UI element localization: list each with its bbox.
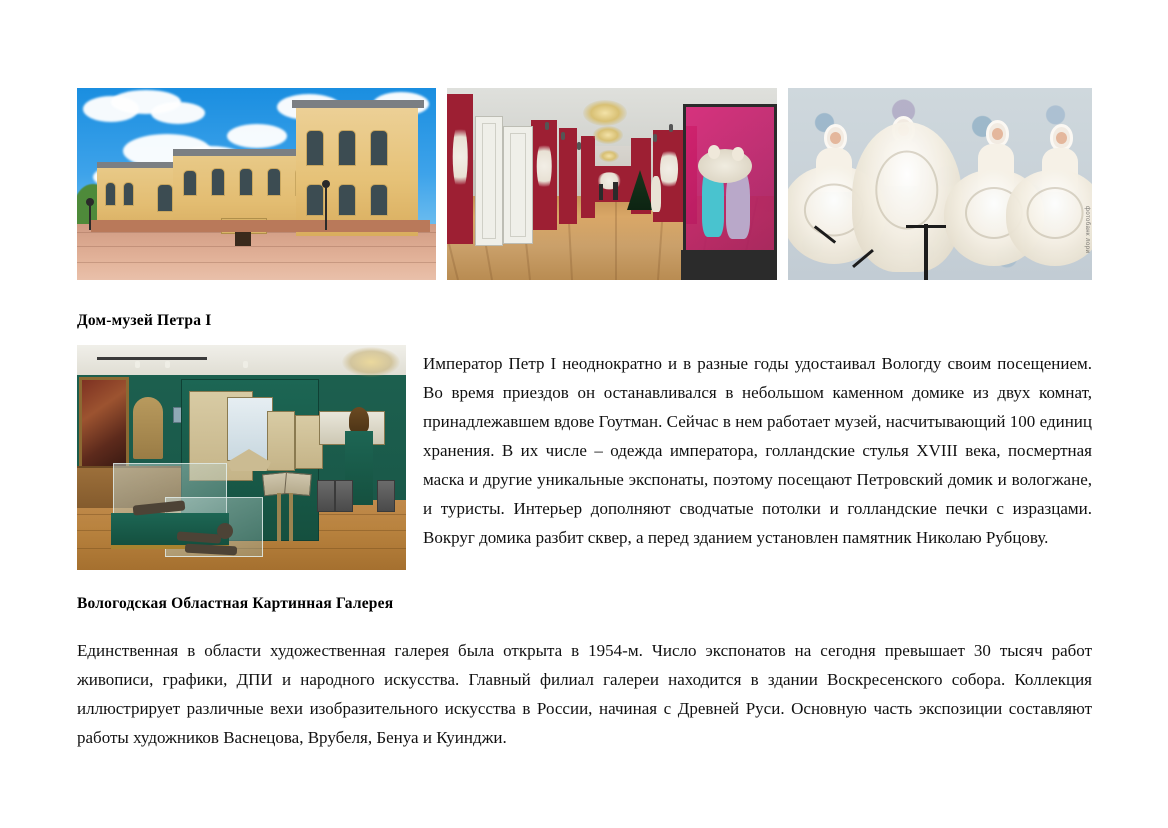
- photo-watermark: фотобанк лори: [1084, 206, 1090, 253]
- exhibit-panel: [267, 411, 295, 471]
- door: [475, 116, 503, 246]
- book-stand-leg: [277, 493, 281, 541]
- display-case-base: [681, 250, 777, 280]
- chair: [335, 480, 353, 512]
- street-lamp: [325, 186, 327, 230]
- costume-display-case[interactable]: [683, 104, 777, 270]
- mannequin: [651, 176, 661, 212]
- street-lamp: [89, 204, 91, 230]
- peter-house-museum-interior-photo: [77, 345, 406, 570]
- case-base: [111, 513, 229, 549]
- lace-shawl-center: [852, 122, 962, 272]
- museum-hall-photo: [447, 88, 777, 280]
- chair: [317, 480, 335, 512]
- chair: [377, 480, 395, 512]
- building-right-wing: [296, 106, 418, 236]
- oil-painting: [79, 377, 129, 469]
- door: [503, 126, 533, 244]
- book-stand-leg: [289, 493, 293, 541]
- chandelier: [593, 126, 623, 144]
- section-heading-peter-house-museum: Дом-музей Петра I: [77, 312, 211, 330]
- exhibition-panel: [531, 120, 557, 230]
- bronze-bust: [349, 407, 369, 433]
- cloud: [151, 102, 205, 124]
- visitor-silhouette: [613, 182, 618, 200]
- photo-strip: фотобанк лори: [77, 88, 1092, 280]
- section-body-peter-house-museum: Император Петр I неоднократно и в разные…: [423, 349, 1092, 552]
- mannequin-head: [708, 145, 720, 159]
- exhibition-panel: [447, 94, 473, 244]
- lighting-track: [97, 357, 207, 360]
- lace-performers-photo: фотобанк лори: [788, 88, 1092, 280]
- music-stand-bar: [906, 225, 946, 228]
- wall-arch-niche: [133, 397, 163, 459]
- gallery-building-photo: [77, 88, 436, 280]
- exhibition-panel: [559, 128, 577, 224]
- visitor-silhouette: [599, 184, 603, 200]
- section-heading-picture-gallery: Вологодская Областная Картинная Галерея: [77, 595, 393, 613]
- chandelier: [599, 150, 619, 162]
- music-stand: [924, 224, 928, 280]
- chandelier: [583, 100, 627, 126]
- mannequin-head: [732, 147, 744, 161]
- cloud: [227, 124, 287, 148]
- chandelier: [342, 347, 400, 377]
- section-body-picture-gallery: Единственная в области художественная га…: [77, 636, 1092, 752]
- cannon-wheel: [217, 523, 233, 539]
- building-plinth: [91, 220, 430, 232]
- exhibition-panel-far: [587, 166, 631, 202]
- document-page: фотобанк лори Дом-музей Петра I: [0, 0, 1168, 828]
